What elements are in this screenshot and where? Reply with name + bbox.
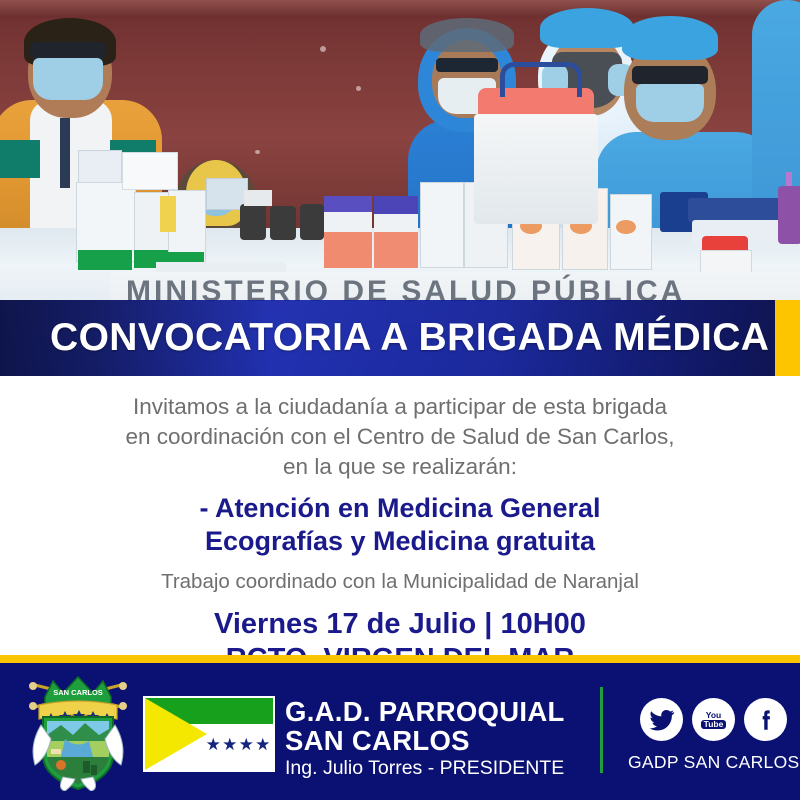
org-name-line2: SAN CARLOS bbox=[285, 726, 565, 755]
social-links: You Tube bbox=[640, 698, 787, 741]
coordination-note: Trabajo coordinado con la Municipalidad … bbox=[0, 569, 800, 595]
footer-divider bbox=[600, 687, 603, 773]
flag-star: ★ bbox=[239, 736, 254, 753]
flag-star: ★ bbox=[255, 736, 270, 753]
wall-speck bbox=[356, 86, 361, 91]
org-president: Ing. Julio Torres - PRESIDENTE bbox=[285, 756, 565, 781]
wall-speck bbox=[320, 46, 326, 52]
page-title: CONVOCATORIA A BRIGADA MÉDICA bbox=[50, 300, 769, 376]
cooler-handle bbox=[500, 62, 582, 97]
services-list: - Atención en Medicina General Ecografía… bbox=[0, 492, 800, 558]
flag-star: ★ bbox=[206, 736, 221, 753]
wall-speck bbox=[255, 150, 260, 154]
san-carlos-coat-of-arms: SAN CARLOS bbox=[27, 673, 129, 791]
flag-yellow-triangle bbox=[145, 698, 207, 770]
medicine-bottle bbox=[270, 206, 296, 240]
coat-of-arms-icon: SAN CARLOS bbox=[27, 673, 129, 791]
body-content: Invitamos a la ciudadanía a participar d… bbox=[0, 376, 800, 655]
san-carlos-flag: ★ ★ ★ ★ bbox=[143, 696, 275, 772]
sanitizer-bottle bbox=[778, 186, 800, 244]
vaccine-cooler bbox=[474, 114, 598, 224]
social-handle: GADP SAN CARLOS bbox=[628, 752, 798, 773]
medicine-box bbox=[374, 214, 418, 234]
medicine-box bbox=[122, 152, 178, 190]
youtube-glyph: You Tube bbox=[697, 708, 730, 731]
medicine-box bbox=[244, 190, 272, 206]
twitter-bird-glyph bbox=[649, 707, 675, 733]
intro-line: en la que se realizarán: bbox=[0, 452, 800, 482]
org-name-line1: G.A.D. PARROQUIAL bbox=[285, 697, 565, 726]
medicine-box bbox=[420, 182, 464, 268]
medicine-bottle bbox=[300, 204, 324, 240]
medicine-box bbox=[78, 250, 132, 270]
organization-block: G.A.D. PARROQUIAL SAN CARLOS Ing. Julio … bbox=[285, 697, 565, 781]
facebook-icon[interactable] bbox=[744, 698, 787, 741]
medicine-box bbox=[688, 198, 792, 222]
intro-line: en coordinación con el Centro de Salud d… bbox=[0, 422, 800, 452]
wall-top-edge bbox=[0, 0, 800, 18]
event-datetime: Viernes 17 de Julio | 10H00 bbox=[0, 607, 800, 642]
medicine-box bbox=[324, 212, 372, 234]
service-line: Ecografías y Medicina gratuita bbox=[0, 525, 800, 558]
medicine-box bbox=[324, 232, 372, 268]
svg-text:SAN CARLOS: SAN CARLOS bbox=[53, 688, 103, 697]
title-accent-bar bbox=[775, 300, 800, 376]
medicine-bottle bbox=[240, 204, 266, 240]
youtube-label-bottom: Tube bbox=[701, 720, 727, 729]
flag-stars: ★ ★ ★ ★ bbox=[205, 734, 271, 754]
intro-paragraph: Invitamos a la ciudadanía a participar d… bbox=[0, 376, 800, 482]
youtube-icon[interactable]: You Tube bbox=[692, 698, 735, 741]
facebook-f-glyph bbox=[753, 707, 779, 733]
medicine-box bbox=[160, 196, 176, 232]
twitter-icon[interactable] bbox=[640, 698, 683, 741]
poster: MINISTERIO DE SALUD PÚBLICA CONVOCATORIA… bbox=[0, 0, 800, 800]
intro-line: Invitamos a la ciudadanía a participar d… bbox=[0, 392, 800, 422]
flag-star: ★ bbox=[222, 736, 237, 753]
gold-divider-bar bbox=[0, 655, 800, 663]
service-line: - Atención en Medicina General bbox=[0, 492, 800, 525]
medicine-box bbox=[616, 220, 636, 234]
medicine-box bbox=[374, 232, 418, 268]
